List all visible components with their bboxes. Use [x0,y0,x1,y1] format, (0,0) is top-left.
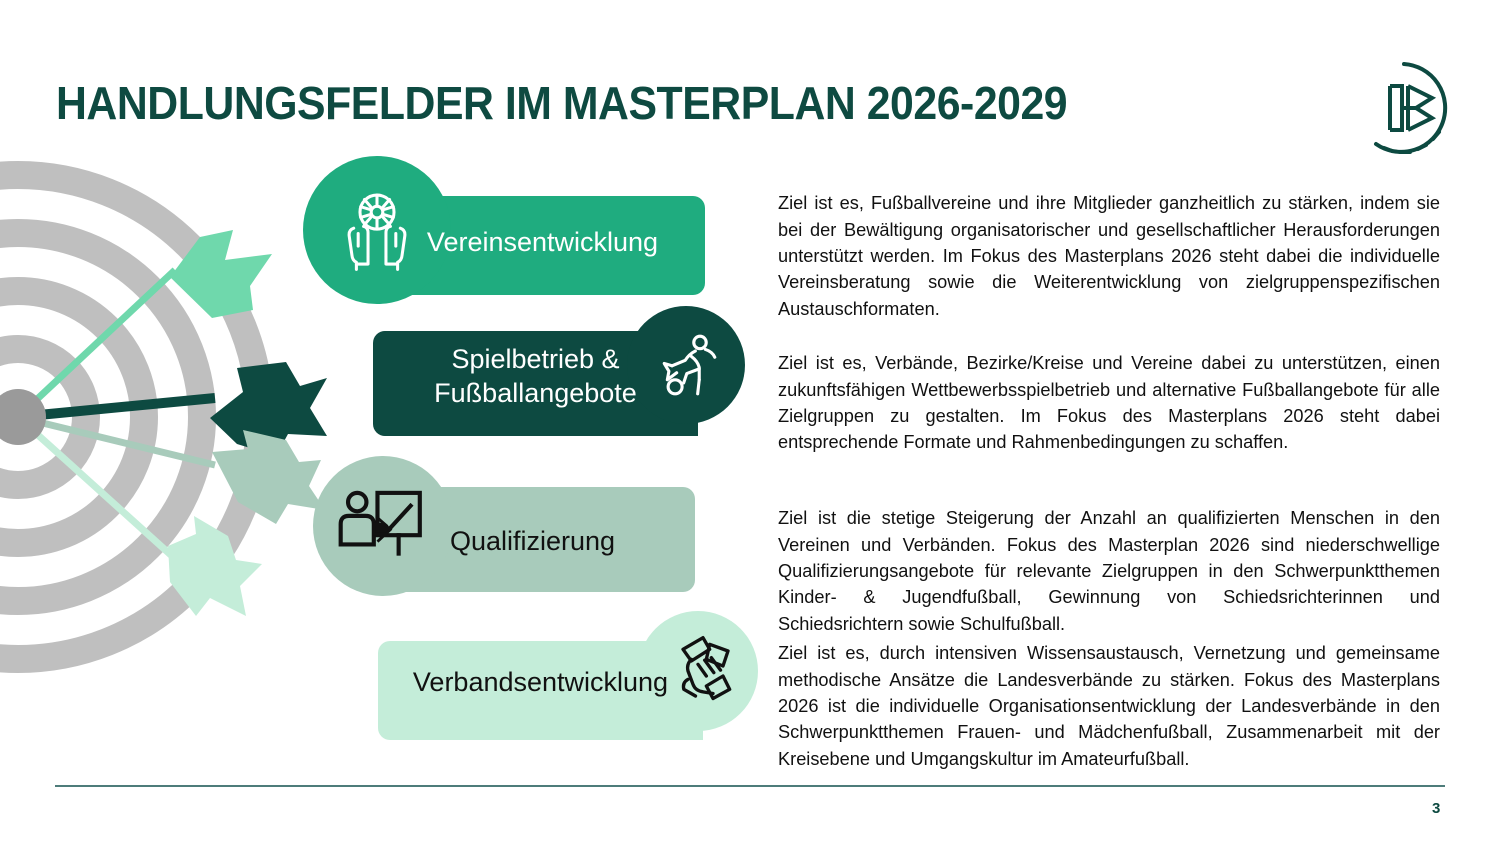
dfb-logo [1356,60,1452,156]
description-spielbetrieb: Ziel ist es, Verbände, Bezirke/Kreise un… [778,350,1440,456]
description-vereinsentwicklung: Ziel ist es, Fußballvereine und ihre Mit… [778,190,1440,322]
description-qualifizierung: Ziel ist die stetige Steigerung der Anza… [778,505,1440,637]
card-label: Spielbetrieb & Fußballangebote [373,342,698,410]
description-verbandsentwicklung: Ziel ist es, durch intensiven Wissensaus… [778,640,1440,772]
card-label: Verbandsentwicklung [378,665,703,699]
card-label: Qualifizierung [370,524,695,558]
page-number: 3 [1432,800,1440,817]
handlungsfelder-card-list: Vereinsentwicklung [0,0,760,844]
footer-divider [55,785,1445,787]
slide-root: HANDLUNGSFELDER IM MASTERPLAN 2026-2029 [0,0,1500,844]
card-label: Vereinsentwicklung [380,225,705,259]
